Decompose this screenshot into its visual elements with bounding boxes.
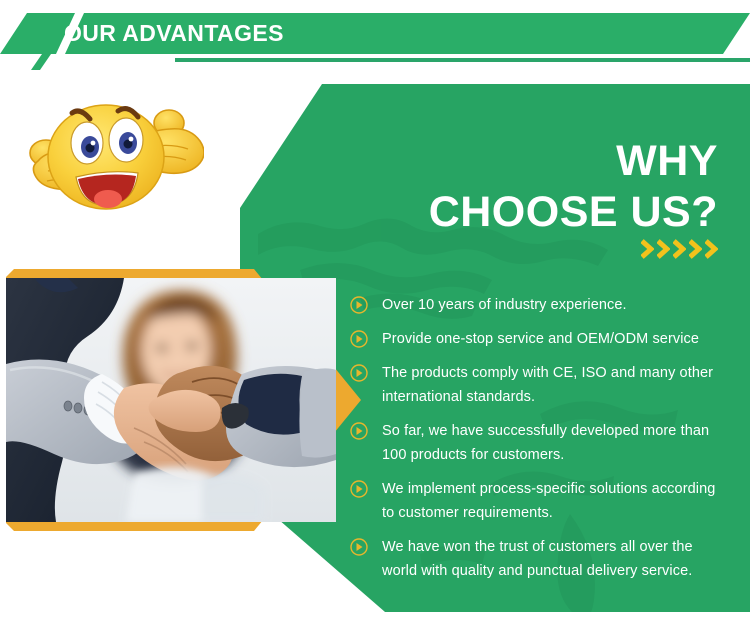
list-item-label: The products comply with CE, ISO and man… — [382, 361, 730, 409]
header-underline — [175, 58, 750, 62]
advantages-list: Over 10 years of industry experience. Pr… — [350, 293, 730, 593]
list-item-label: Provide one-stop service and OEM/ODM ser… — [382, 327, 699, 351]
circle-arrow-right-icon — [350, 480, 368, 498]
circle-arrow-right-icon — [350, 364, 368, 382]
chevron-right-icon — [705, 239, 718, 259]
headline-line-1: WHY — [429, 136, 718, 187]
business-handshake-photo — [6, 278, 336, 522]
chevron-right-icon — [641, 239, 654, 259]
headline: WHY CHOOSE US? — [429, 136, 718, 238]
list-item: Provide one-stop service and OEM/ODM ser… — [350, 327, 730, 351]
header-accent-slash — [31, 54, 51, 70]
list-item: The products comply with CE, ISO and man… — [350, 361, 730, 409]
list-item-label: We have won the trust of customers all o… — [382, 535, 730, 583]
list-item-label: We implement process-specific solutions … — [382, 477, 730, 525]
circle-arrow-right-icon — [350, 538, 368, 556]
list-item-label: Over 10 years of industry experience. — [382, 293, 627, 317]
circle-arrow-right-icon — [350, 422, 368, 440]
chevron-right-icon — [657, 239, 670, 259]
circle-arrow-right-icon — [350, 330, 368, 348]
page-title: OUR ADVANTAGES — [64, 13, 284, 54]
headline-line-2: CHOOSE US? — [429, 187, 718, 238]
list-item: So far, we have successfully developed m… — [350, 419, 730, 467]
list-item: We have won the trust of customers all o… — [350, 535, 730, 583]
list-item-label: So far, we have successfully developed m… — [382, 419, 730, 467]
circle-arrow-right-icon — [350, 296, 368, 314]
list-item: Over 10 years of industry experience. — [350, 293, 730, 317]
chevron-row — [641, 239, 718, 259]
list-item: We implement process-specific solutions … — [350, 477, 730, 525]
chevron-right-icon — [689, 239, 702, 259]
thumbs-up-smiley-emoji — [14, 95, 204, 223]
chevron-right-icon — [673, 239, 686, 259]
